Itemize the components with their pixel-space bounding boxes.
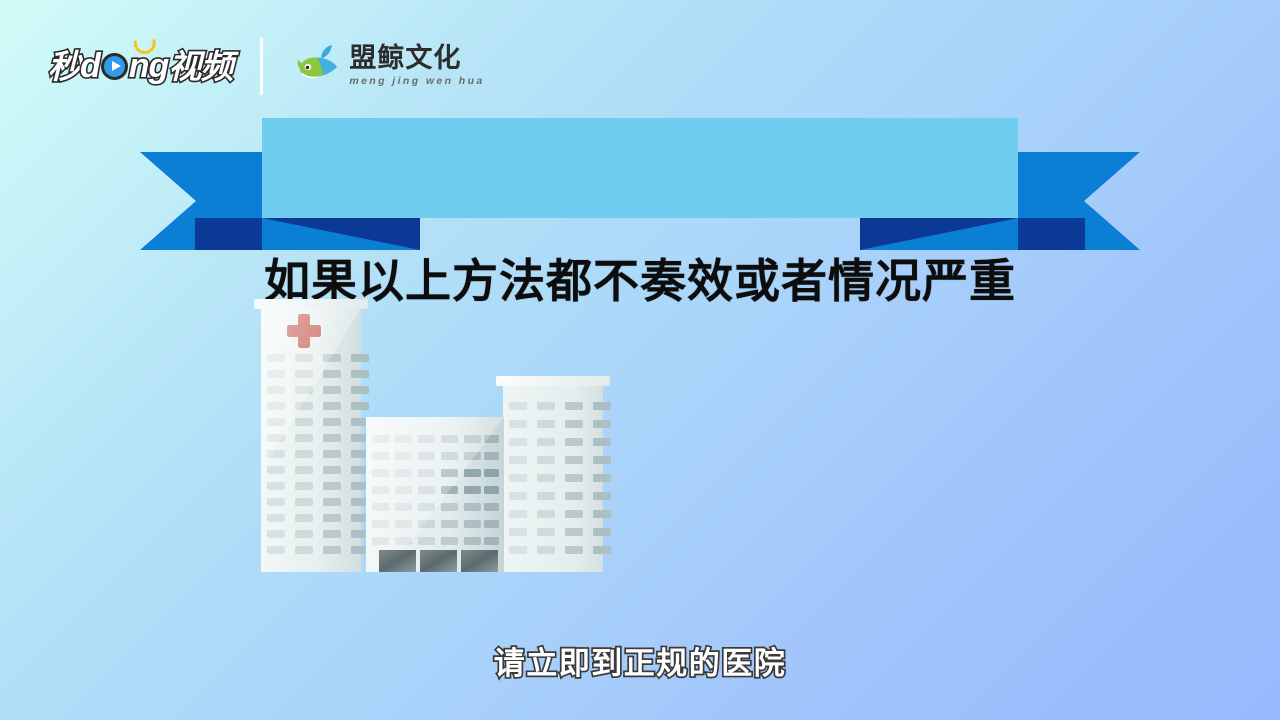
entrance-door-1 bbox=[379, 550, 416, 572]
entrance-door-3 bbox=[461, 550, 498, 572]
title-ribbon: 如果以上方法都不奏效或者情况严重 bbox=[0, 110, 1280, 270]
ribbon-panel bbox=[262, 118, 1018, 218]
miaodong-shipin-logo: 秒 d ng 视频 bbox=[48, 43, 232, 89]
play-icon bbox=[101, 53, 128, 80]
video-frame: 秒 d ng 视频 盟鲸文化 meng jing wen hua bbox=[0, 0, 1280, 720]
hospital-svg bbox=[248, 292, 620, 580]
brand-primary-latin-ng: ng bbox=[129, 49, 169, 83]
logo-divider bbox=[260, 37, 263, 95]
brand-secondary-pinyin: meng jing wen hua bbox=[349, 76, 484, 87]
logo-bar: 秒 d ng 视频 盟鲸文化 meng jing wen hua bbox=[48, 34, 485, 98]
hospital-illustration bbox=[248, 292, 620, 580]
entrance-door-2 bbox=[420, 550, 457, 572]
right-block-roof bbox=[496, 376, 610, 386]
whale-icon bbox=[293, 41, 343, 91]
brand-primary-suffix: 视频 bbox=[168, 50, 232, 83]
middle-block-doors bbox=[379, 550, 498, 572]
brand-secondary-title: 盟鲸文化 bbox=[349, 45, 484, 72]
brand-primary-latin-d: d bbox=[80, 49, 100, 83]
left-tower-roof bbox=[254, 299, 368, 309]
mengjing-wenhua-logo: 盟鲸文化 meng jing wen hua bbox=[293, 38, 484, 94]
brand-secondary-copy: 盟鲸文化 meng jing wen hua bbox=[349, 45, 484, 87]
brand-primary-prefix: 秒 bbox=[48, 50, 80, 83]
caption: 请立即到正规的医院 bbox=[0, 638, 1280, 683]
